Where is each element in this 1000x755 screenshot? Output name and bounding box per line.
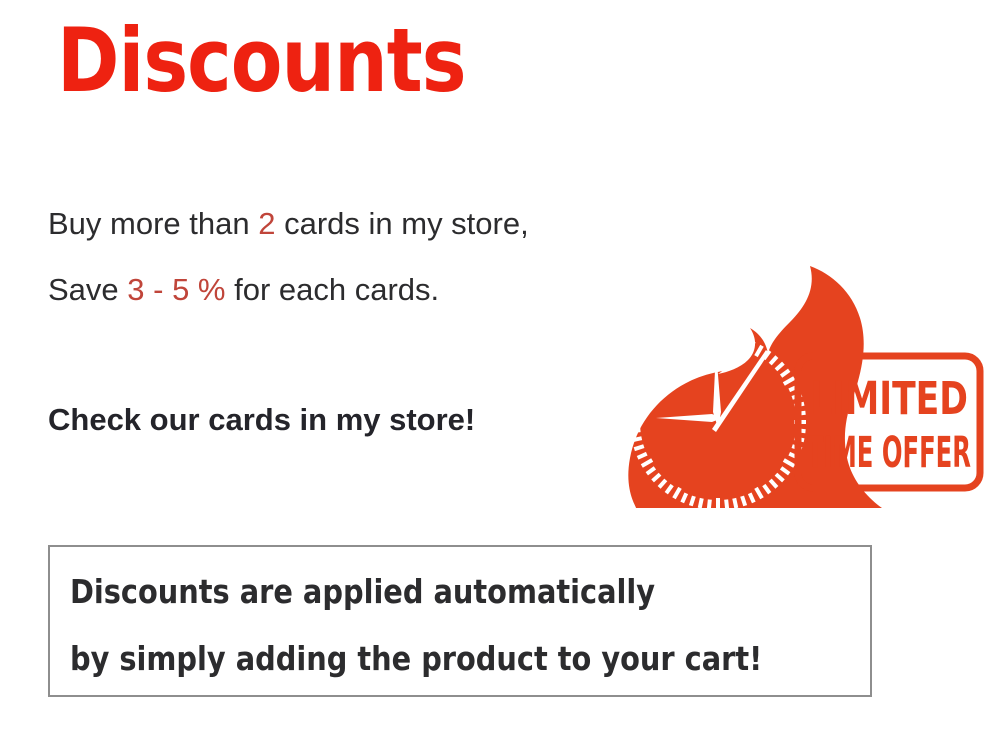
- notice-line-1: Discounts are applied automatically: [70, 575, 655, 608]
- page-title: Discounts: [57, 17, 466, 105]
- limited-time-offer-icon: LIMITED TIME OFFER: [600, 262, 992, 508]
- auto-discount-notice-box: Discounts are applied automatically by s…: [48, 545, 872, 697]
- limited-offer-badge: LIMITED TIME OFFER: [798, 356, 980, 488]
- discount-savings-percent: 3 - 5 %: [127, 272, 225, 307]
- discount-savings-suffix: for each cards.: [226, 272, 440, 307]
- discount-condition-line: Buy more than 2 cards in my store,: [48, 208, 529, 239]
- store-call-to-action: Check our cards in my store!: [48, 404, 475, 435]
- discount-savings-prefix: Save: [48, 272, 127, 307]
- discount-savings-line: Save 3 - 5 % for each cards.: [48, 274, 439, 305]
- badge-line-1: LIMITED: [810, 372, 968, 425]
- discount-promo-banner: Discounts Buy more than 2 cards in my st…: [0, 0, 1000, 755]
- discount-condition-prefix: Buy more than: [48, 206, 258, 241]
- discount-condition-quantity: 2: [258, 206, 275, 241]
- badge-line-2: TIME OFFER: [807, 428, 971, 478]
- discount-condition-suffix: cards in my store,: [275, 206, 528, 241]
- notice-line-2: by simply adding the product to your car…: [70, 642, 762, 675]
